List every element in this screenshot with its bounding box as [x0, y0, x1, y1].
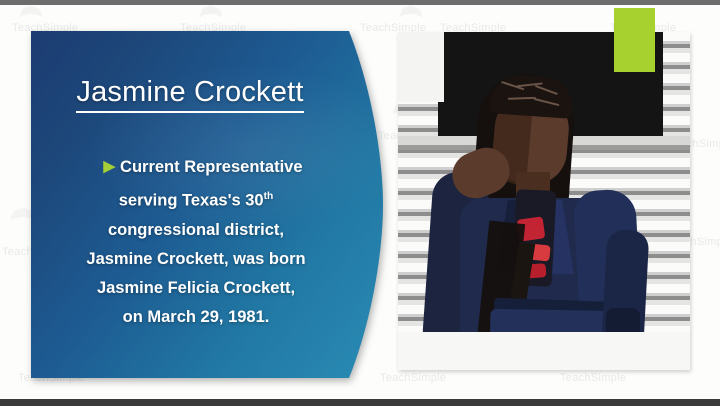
panel-background: Jasmine Crockett ▶Current Representative… [31, 31, 383, 378]
top-chrome-bar [0, 0, 720, 5]
slide-canvas: TeachSimple TeachSimple TeachSimple Teac… [0, 0, 720, 406]
green-accent-rectangle [614, 8, 655, 72]
jasmine-crockett-photo [398, 32, 690, 370]
photo-left-wall [398, 32, 444, 102]
body-line-1: ▶Current Representative [37, 153, 355, 182]
body-line-6: on March 29, 1981. [37, 303, 355, 332]
teachsimple-logo-icon [396, 4, 426, 22]
watermark-text: TeachSimple [380, 372, 446, 384]
panel-shadow: Jasmine Crockett ▶Current Representative… [31, 31, 383, 378]
slide-title-text: Jasmine Crockett [76, 76, 303, 113]
body-line-2-text: serving Texas's 30 [119, 192, 264, 210]
watermark-text: TeachSimple [560, 372, 626, 384]
body-line-4: Jasmine Crockett, was born [37, 245, 355, 274]
slide-body: ▶Current Representative serving Texas's … [37, 153, 355, 332]
slide-title: Jasmine Crockett [31, 76, 349, 109]
teachsimple-logo-icon [16, 4, 46, 22]
teachsimple-logo-icon [196, 4, 226, 22]
body-line-1-text: Current Representative [120, 158, 302, 176]
triangle-right-bullet-icon: ▶ [103, 152, 115, 181]
photo-bottom-fade [398, 332, 690, 370]
body-line-2: serving Texas's 30th [37, 182, 355, 216]
body-line-3: congressional district, [37, 216, 355, 245]
content-panel: Jasmine Crockett ▶Current Representative… [31, 31, 383, 378]
ordinal-suffix: th [264, 191, 274, 202]
body-line-5: Jasmine Felicia Crockett, [37, 274, 355, 303]
bottom-chrome-bar [0, 399, 720, 406]
